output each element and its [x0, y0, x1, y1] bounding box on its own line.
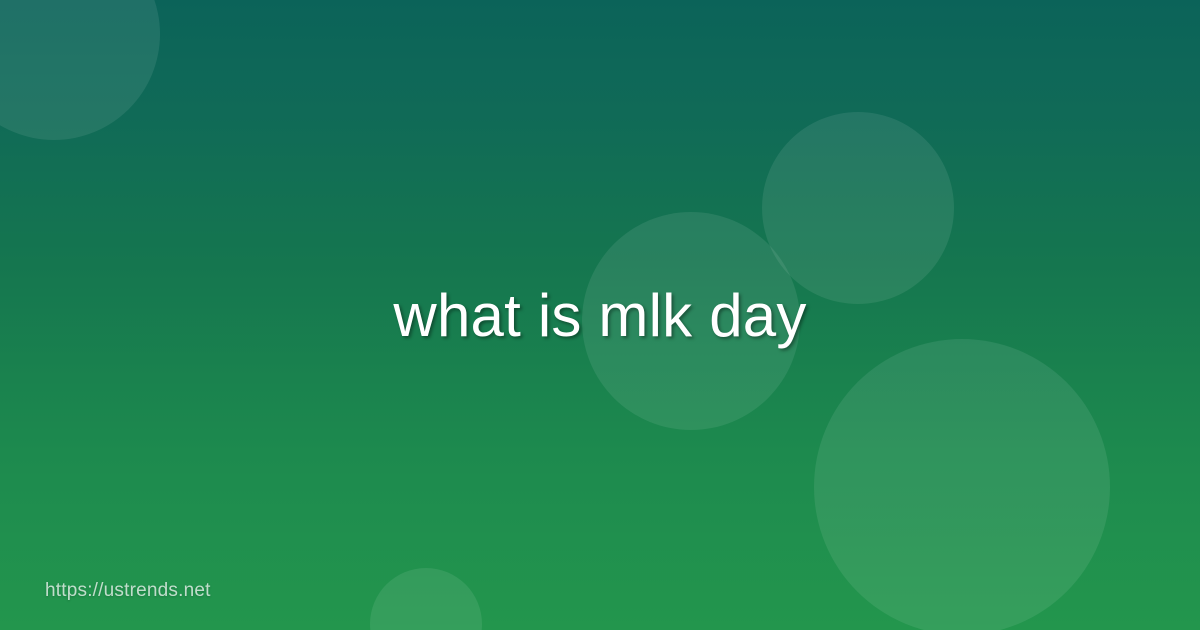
- headline-container: what is mlk day: [0, 0, 1200, 630]
- page-title: what is mlk day: [313, 281, 886, 350]
- og-social-card: what is mlk day https://ustrends.net: [0, 0, 1200, 630]
- site-url-label: https://ustrends.net: [45, 580, 211, 602]
